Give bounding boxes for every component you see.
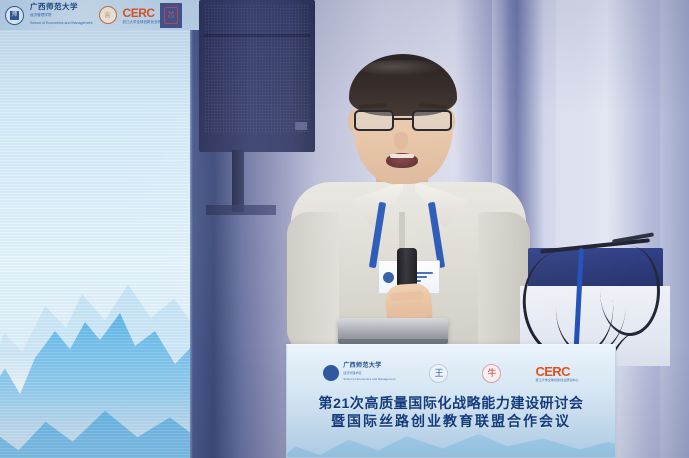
lens-left (354, 110, 394, 131)
mist-layer (0, 354, 190, 424)
podium-title-line-2: 暨国际丝路创业教育联盟合作会议 (287, 412, 615, 431)
university-line-2: 经济管理学院 (30, 11, 93, 19)
university-seal-icon (323, 365, 339, 381)
nose (394, 132, 408, 150)
mouth-speaking (386, 153, 418, 168)
sleeve-left (287, 212, 339, 352)
podium-university-line-1: 广西师范大学 (343, 363, 381, 369)
podium-logo-row: 广西师范大学 经济管理学院 School of Economics and Ma… (287, 358, 615, 388)
podium-university-line-2: 经济管理学院 (343, 370, 395, 377)
led-backdrop-screen (0, 28, 190, 458)
speaker-seam (204, 34, 310, 37)
lens-right (412, 110, 452, 131)
pa-speaker-stand (232, 150, 244, 212)
glasses-bridge (394, 118, 412, 120)
podium-logo-partner-icon: 王 (429, 364, 448, 383)
mountain-layer-mid (0, 286, 190, 436)
red-seal-icon: 芯 (160, 3, 182, 28)
eyeglasses-icon (353, 110, 453, 132)
laptop (338, 318, 448, 344)
university-name-cn: 广西师范大学 经济管理学院 School of Economics and Ma… (30, 3, 93, 27)
podium-university-line-en: School of Economics and Management (343, 376, 395, 383)
ox-head-icon: ♕ (99, 6, 117, 24)
podium-title: 第21次高质量国际化战略能力建设研讨会 暨国际丝路创业教育联盟合作会议 (287, 394, 615, 431)
university-line-en: School of Economics and Management (30, 19, 93, 27)
top-banner: 师 广西师范大学 经济管理学院 School of Economics and … (0, 0, 205, 30)
pa-speaker-base (206, 205, 276, 215)
finger (391, 302, 425, 312)
university-seal-icon: 师 (5, 6, 24, 25)
conference-photo-scene: 师 广西师范大学 经济管理学院 School of Economics and … (0, 0, 689, 458)
badge-seal-icon (383, 272, 394, 283)
podium-logo-ox-icon: 牛 (482, 364, 501, 383)
presenter (291, 52, 526, 352)
podium-logo-university: 广西师范大学 经济管理学院 School of Economics and Ma… (323, 363, 395, 383)
podium-cerc-wordmark: CERC (535, 365, 578, 378)
finger (390, 291, 424, 301)
podium-university-name: 广西师范大学 经济管理学院 School of Economics and Ma… (343, 363, 395, 383)
podium-cerc-subtitle: 浙江大学全球创新创业研究中心 (535, 378, 578, 382)
podium-logo-cerc: CERC 浙江大学全球创新创业研究中心 (535, 365, 578, 382)
podium: 广西师范大学 经济管理学院 School of Economics and Ma… (286, 344, 616, 458)
podium-title-line-1: 第21次高质量国际化战略能力建设研讨会 (287, 394, 615, 412)
mountain-layer-near (0, 358, 190, 458)
university-line-1: 广西师范大学 (30, 2, 78, 11)
cable-3 (600, 246, 660, 336)
mountain-layer-far (0, 258, 190, 378)
